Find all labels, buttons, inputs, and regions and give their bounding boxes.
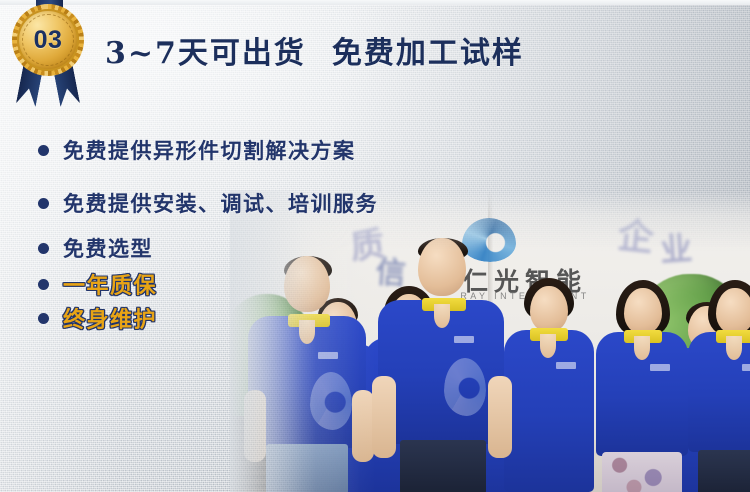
bullet-dot-icon: [38, 313, 49, 324]
list-item-label: 一年质保: [63, 268, 157, 300]
list-item: 免费提供异形件切割解决方案: [38, 133, 458, 167]
person-mid-woman-right: [590, 266, 694, 492]
list-item: 终身维护: [38, 301, 458, 335]
feature-list: 免费提供异形件切割解决方案 免费提供安装、调试、培训服务 免费选型 一年质保 终…: [38, 133, 458, 335]
list-item-label: 免费提供异形件切割解决方案: [63, 135, 356, 165]
list-item-label: 免费提供安装、调试、培训服务: [63, 188, 378, 218]
list-item: 一年质保: [38, 267, 458, 301]
wall-decor-character: 业: [658, 223, 693, 271]
bullet-dot-icon: [38, 145, 49, 156]
title-part-1: 3~7天可出货: [105, 28, 306, 72]
list-item: 免费提供安装、调试、培训服务: [38, 186, 458, 220]
bullet-dot-icon: [38, 279, 49, 290]
list-item-label: 终身维护: [63, 302, 157, 334]
medal-badge: 03: [10, 0, 88, 100]
banner-canvas: 质 信 企 业 仁光智能 RAY INTELLIGENT: [0, 0, 750, 492]
list-item: 免费选型: [38, 231, 458, 265]
top-edge-strip: [0, 0, 750, 5]
bullet-dot-icon: [38, 243, 49, 254]
person-front-right-woman: [682, 268, 750, 492]
wall-decor-character: 企: [615, 206, 656, 261]
bullet-dot-icon: [38, 198, 49, 209]
list-item-label: 免费选型: [63, 233, 153, 263]
medal-number: 03: [17, 9, 79, 71]
title-part-2: 免费加工试样: [332, 28, 524, 72]
page-title: 3~7天可出货 免费加工试样: [105, 24, 665, 76]
